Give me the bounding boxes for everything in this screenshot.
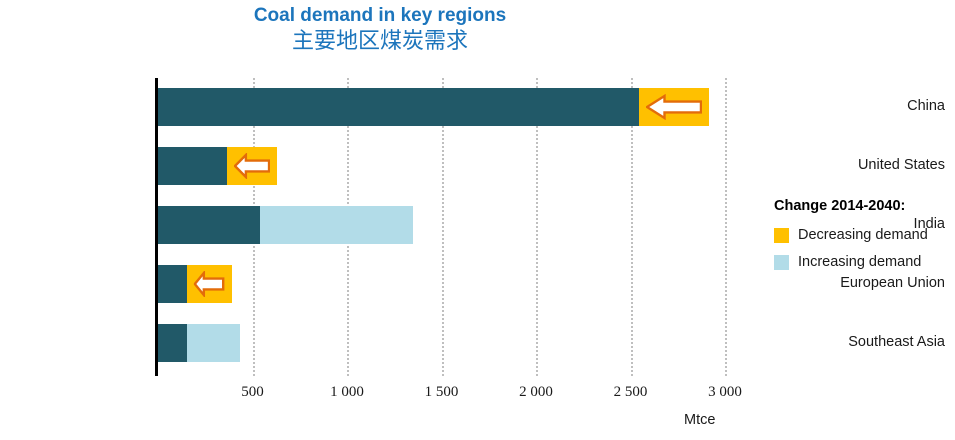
decreasing-arrow-icon bbox=[646, 94, 702, 120]
bar-row[interactable] bbox=[158, 324, 725, 362]
legend-swatch-icon bbox=[774, 228, 789, 243]
page-subtitle: 主要地区煤炭需求 bbox=[0, 28, 760, 56]
category-label-united-states: United States bbox=[797, 157, 945, 173]
bar-row[interactable] bbox=[158, 206, 725, 244]
bar-segment-increasing bbox=[260, 206, 413, 244]
chart-header: Coal demand in key regions 主要地区煤炭需求 bbox=[0, 4, 760, 56]
bar-segment-decreasing bbox=[187, 265, 231, 303]
x-tick-label: 2 000 bbox=[496, 384, 576, 401]
bar-row[interactable] bbox=[158, 147, 725, 185]
x-tick-label: 1 500 bbox=[402, 384, 482, 401]
legend-item[interactable]: Increasing demand bbox=[774, 254, 954, 270]
legend-label: Decreasing demand bbox=[798, 227, 928, 243]
x-tick-label: 1 000 bbox=[307, 384, 387, 401]
bar-row[interactable] bbox=[158, 265, 725, 303]
bar-segment-base bbox=[158, 265, 187, 303]
decreasing-arrow-icon bbox=[234, 153, 270, 179]
bar-segment-base bbox=[158, 88, 639, 126]
bar-segment-base bbox=[158, 147, 227, 185]
decreasing-arrow-icon bbox=[194, 271, 224, 297]
category-label-southeast-asia: Southeast Asia bbox=[797, 334, 945, 350]
page-title: Coal demand in key regions bbox=[0, 4, 760, 28]
legend: Change 2014-2040: Decreasing demandIncre… bbox=[774, 198, 954, 281]
bar-segment-base bbox=[158, 324, 187, 362]
bar-segment-base bbox=[158, 206, 260, 244]
bar-row[interactable] bbox=[158, 88, 725, 126]
plot-area bbox=[158, 78, 725, 376]
legend-item[interactable]: Decreasing demand bbox=[774, 227, 954, 243]
x-tick-label: 2 500 bbox=[591, 384, 671, 401]
x-axis-unit-label: Mtce bbox=[684, 412, 715, 428]
bar-segment-decreasing bbox=[639, 88, 709, 126]
category-label-china: China bbox=[797, 98, 945, 114]
legend-swatch-icon bbox=[774, 255, 789, 270]
bar-segment-increasing bbox=[187, 324, 240, 362]
gridline bbox=[725, 78, 727, 376]
legend-label: Increasing demand bbox=[798, 254, 921, 270]
x-tick-label: 500 bbox=[213, 384, 293, 401]
legend-title: Change 2014-2040: bbox=[774, 198, 954, 214]
x-tick-label: 3 000 bbox=[685, 384, 765, 401]
bar-segment-decreasing bbox=[227, 147, 277, 185]
legend-items: Decreasing demandIncreasing demand bbox=[774, 227, 954, 270]
